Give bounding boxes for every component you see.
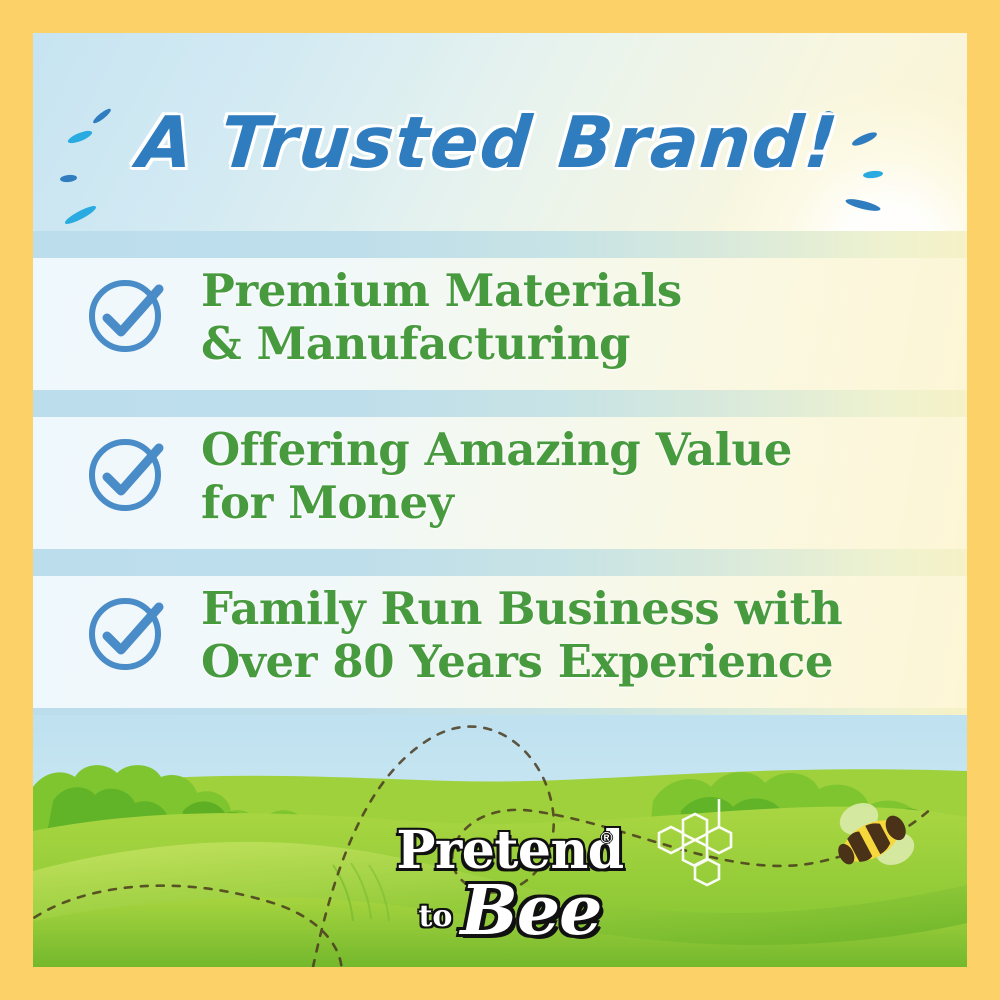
- check-circle-icon: [85, 590, 169, 679]
- landscape-scene: Pretend to Bee ®: [33, 715, 967, 967]
- banner-card: A Trusted Brand! Premium Materials & Man…: [33, 33, 967, 967]
- page-title: A Trusted Brand!: [134, 101, 842, 184]
- sparkle-dash-2: [66, 128, 93, 145]
- band-separator-2: [33, 390, 967, 417]
- sparkle-dash-3: [60, 174, 78, 183]
- band-separator-1: [33, 231, 967, 258]
- benefit-row-3: Family Run Business with Over 80 Years E…: [33, 582, 967, 688]
- brand-banner: A Trusted Brand! Premium Materials & Man…: [0, 0, 1000, 1000]
- check-circle-icon: [85, 272, 169, 361]
- benefit-label-1: Premium Materials & Manufacturing: [201, 264, 682, 370]
- sparkle-dash-1: [91, 107, 112, 125]
- sparkle-dash-7: [863, 170, 884, 179]
- benefit-label-2: Offering Amazing Value for Money: [201, 423, 792, 529]
- check-circle-icon: [85, 431, 169, 520]
- benefit-label-3: Family Run Business with Over 80 Years E…: [201, 582, 842, 688]
- sparkle-dash-4: [63, 203, 98, 226]
- sparkle-dash-8: [845, 197, 882, 213]
- benefit-row-2: Offering Amazing Value for Money: [33, 423, 967, 529]
- benefit-row-1: Premium Materials & Manufacturing: [33, 264, 967, 370]
- band-separator-3: [33, 549, 967, 576]
- sparkle-dash-6: [851, 130, 879, 148]
